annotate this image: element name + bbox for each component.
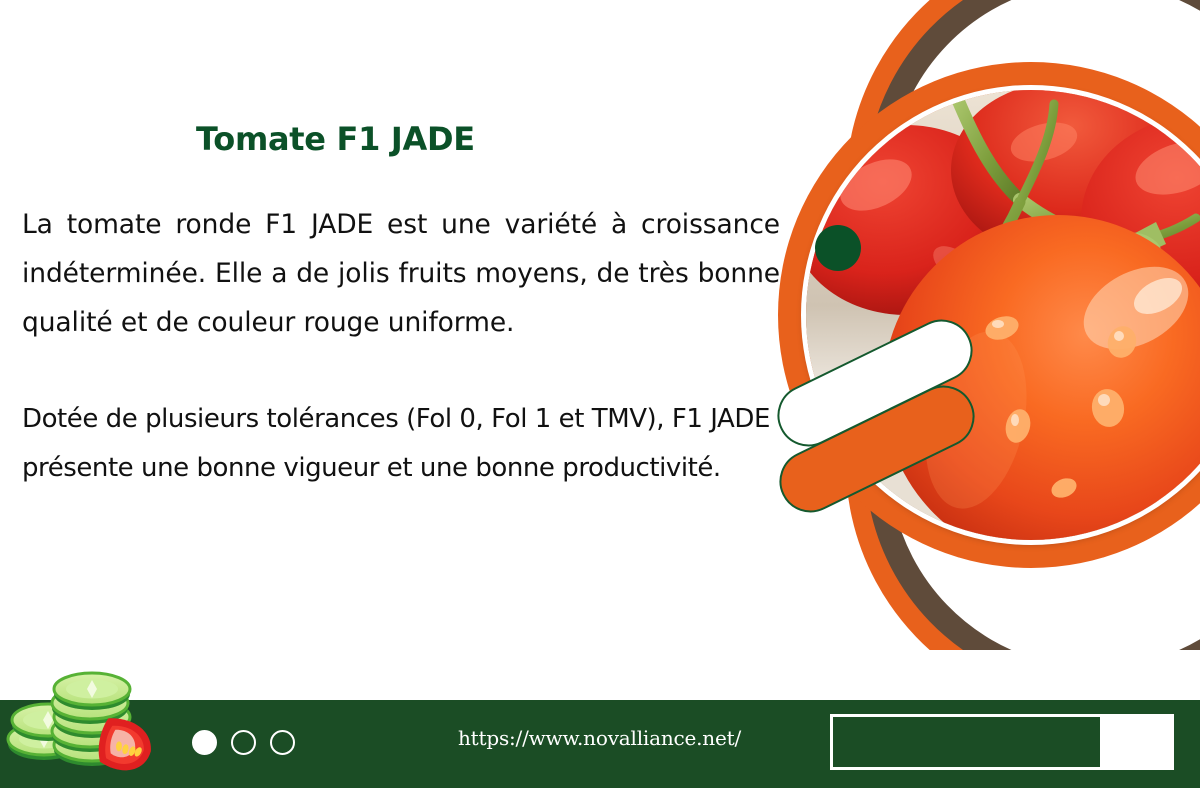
green-dot-accent xyxy=(815,225,861,271)
pagination-dot-3[interactable] xyxy=(270,730,295,755)
description-paragraph-1: La tomate ronde F1 JADE est une variété … xyxy=(22,200,780,347)
pagination-dot-2[interactable] xyxy=(231,730,256,755)
website-url-link[interactable]: https://www.novalliance.net/ xyxy=(458,726,741,750)
description-block: La tomate ronde F1 JADE est une variété … xyxy=(22,200,780,493)
slide-canvas: Tomate F1 JADE La tomate ronde F1 JADE e… xyxy=(0,0,1200,788)
pagination-dots[interactable] xyxy=(192,730,295,755)
page-title: Tomate F1 JADE xyxy=(196,120,475,158)
pagination-dot-1[interactable] xyxy=(192,730,217,755)
cucumber-slices-and-tomato-wedge-icon xyxy=(4,668,166,778)
description-paragraph-2: Dotée de plusieurs tolérances (Fol 0, Fo… xyxy=(22,395,782,493)
progress-bar[interactable] xyxy=(830,714,1174,770)
progress-bar-remaining xyxy=(1100,717,1171,767)
